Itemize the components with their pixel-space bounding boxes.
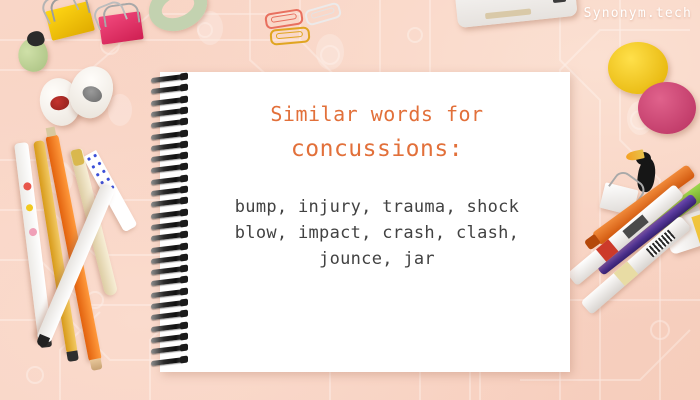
synonym-list: bump, injury, trauma, shock blow, impact… <box>184 194 570 272</box>
spiral-coil <box>151 210 185 219</box>
spiral-coil <box>151 232 185 241</box>
spiral-coil <box>151 187 185 196</box>
spiral-coil <box>151 221 185 230</box>
synonym-line: blow, impact, crash, clash, <box>184 220 570 246</box>
synonym-line: bump, injury, trauma, shock <box>184 194 570 220</box>
spiral-coil <box>151 255 185 264</box>
spiral-coil <box>151 74 185 83</box>
page-heading: Similar words for <box>184 102 570 126</box>
spiral-coil <box>151 119 185 128</box>
desk-scene: Similar words for concussions: bump, inj… <box>0 0 700 400</box>
binder-clip-pink <box>98 11 143 45</box>
spiral-coil <box>151 300 185 309</box>
spiral-coil <box>151 142 185 151</box>
spiral-coil <box>151 130 185 139</box>
spiral-coil <box>151 164 185 173</box>
spiral-coil <box>151 289 185 298</box>
spiral-coil <box>151 97 185 106</box>
spiral-coil <box>151 108 185 117</box>
spiral-coil <box>151 176 185 185</box>
spiral-coil <box>151 277 185 286</box>
spiral-coil <box>151 198 185 207</box>
spiral-coil <box>151 334 185 343</box>
spiral-binding <box>151 76 195 368</box>
notepad-page: Similar words for concussions: bump, inj… <box>172 72 570 372</box>
spiral-coil <box>151 311 185 320</box>
macaron-pink <box>638 82 696 134</box>
site-watermark: Synonym.tech <box>584 6 692 21</box>
synonym-line: jounce, jar <box>184 246 570 272</box>
spiral-coil <box>151 243 185 252</box>
spiral-coil <box>151 323 185 332</box>
spiral-coil <box>151 266 185 275</box>
spiral-coil <box>151 153 185 162</box>
spiral-coil <box>151 85 185 94</box>
search-term: concussions: <box>184 136 570 162</box>
notepad: Similar words for concussions: bump, inj… <box>160 72 570 372</box>
spiral-coil <box>151 356 185 365</box>
spiral-coil <box>151 345 185 354</box>
